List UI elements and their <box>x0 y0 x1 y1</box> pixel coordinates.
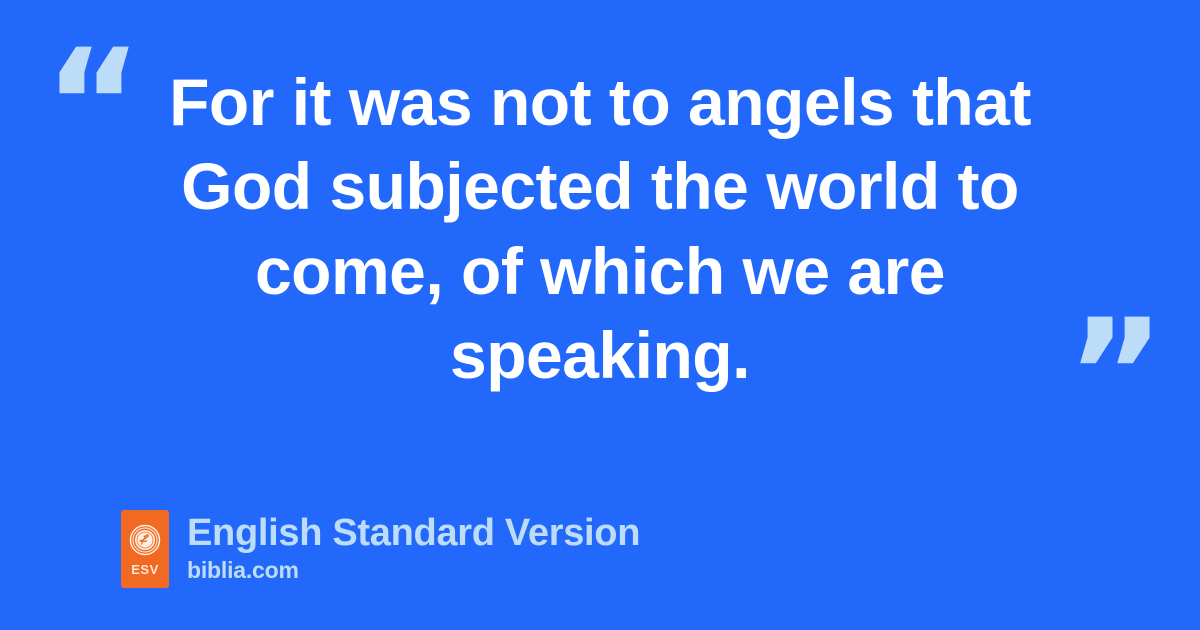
attribution-text: English Standard Version biblia.com <box>187 513 640 585</box>
bible-version-name: English Standard Version <box>187 513 640 554</box>
site-name: biblia.com <box>187 556 640 585</box>
attribution: ESV English Standard Version biblia.com <box>121 510 640 588</box>
bible-verse-card: “ For it was not to angels that God subj… <box>0 0 1200 630</box>
esv-badge: ESV <box>121 510 169 588</box>
open-quote-icon: “ <box>44 30 143 180</box>
close-quote-icon: ” <box>1066 300 1165 450</box>
quote-block: For it was not to angels that God subjec… <box>140 60 1060 398</box>
esv-abbreviation-label: ESV <box>131 563 159 576</box>
esv-seal-icon <box>129 524 161 556</box>
quote-text: For it was not to angels that God subjec… <box>140 60 1060 398</box>
